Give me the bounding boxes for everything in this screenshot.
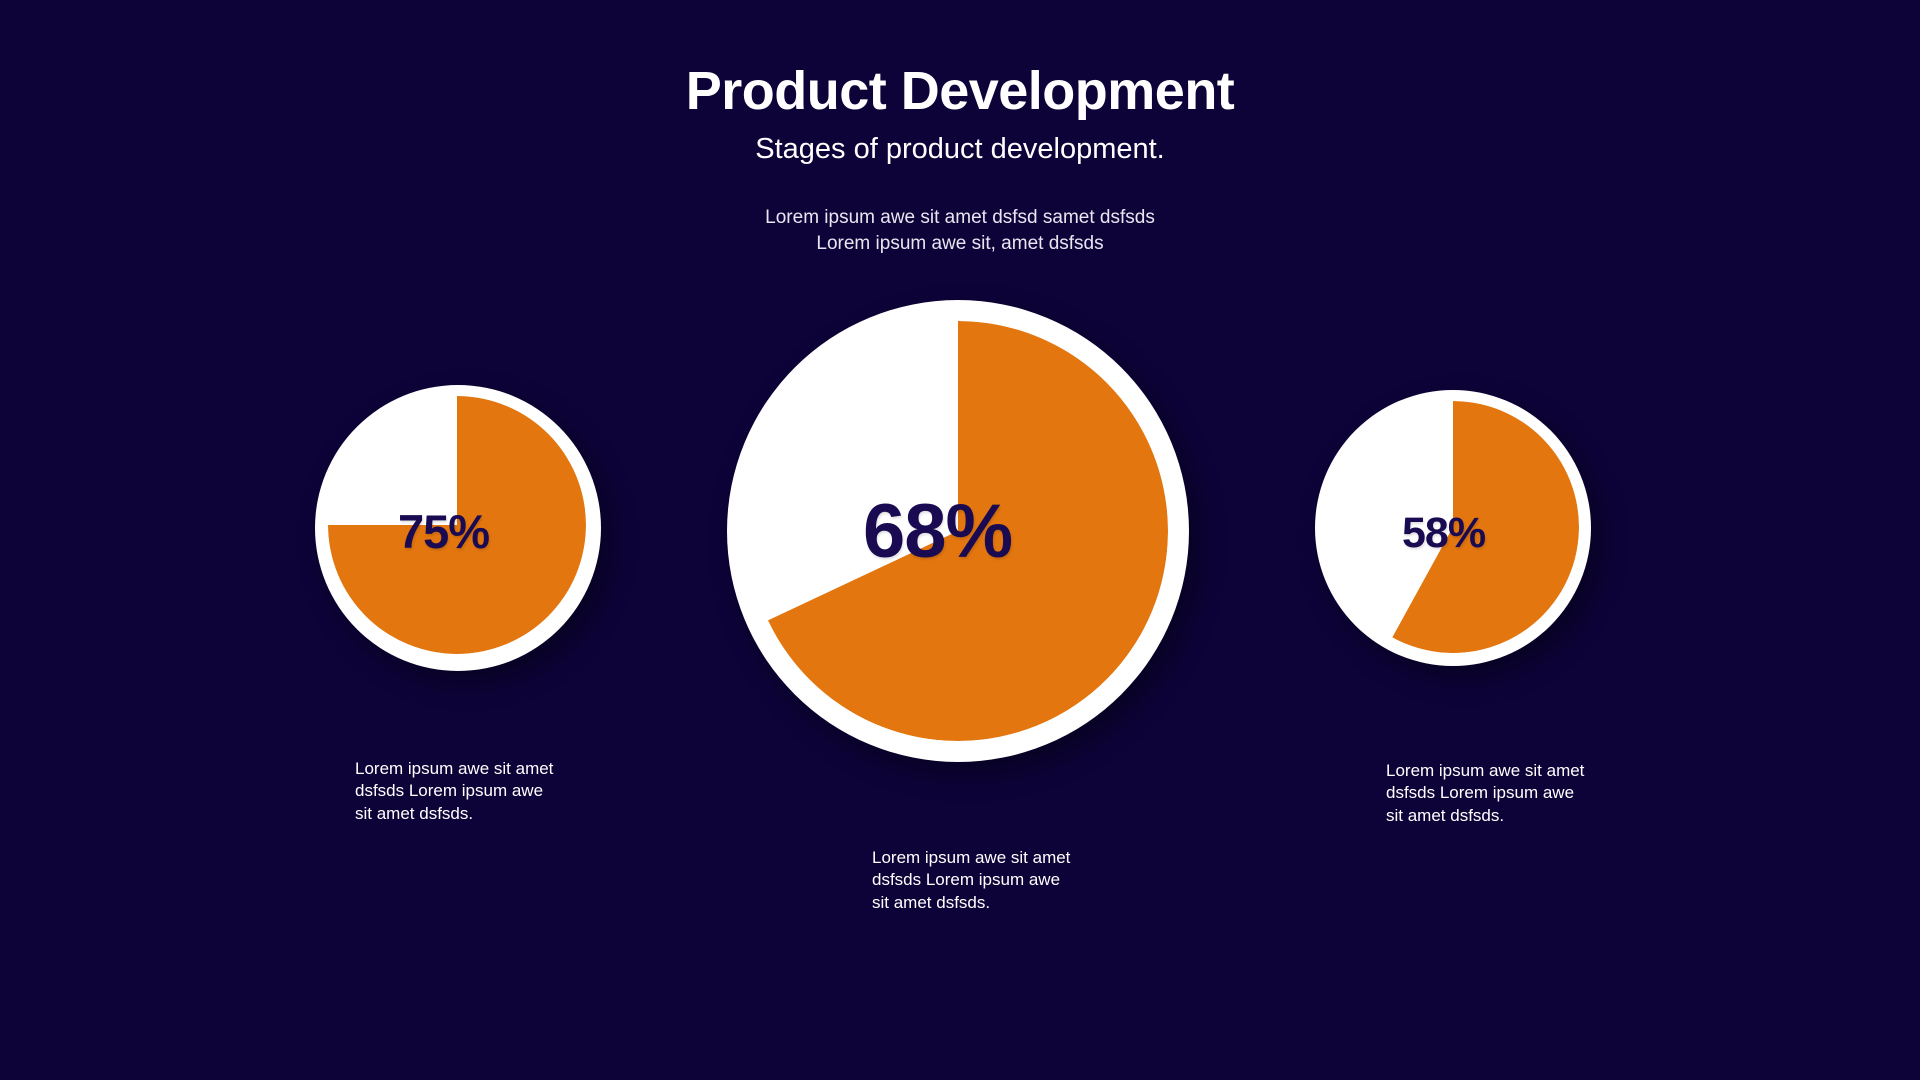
pie-value-label-1: 75% bbox=[398, 508, 489, 555]
pie-chart-group: 75% Lorem ipsum awe sit amet dsfsds Lore… bbox=[0, 0, 1920, 1080]
infographic-slide: Product Development Stages of product de… bbox=[0, 0, 1920, 1080]
pie-caption-1: Lorem ipsum awe sit amet dsfsds Lorem ip… bbox=[355, 758, 560, 825]
pie-caption-2: Lorem ipsum awe sit amet dsfsds Lorem ip… bbox=[872, 847, 1077, 914]
pie-value-label-3: 58% bbox=[1402, 512, 1485, 555]
pie-caption-3: Lorem ipsum awe sit amet dsfsds Lorem ip… bbox=[1386, 760, 1586, 827]
pie-value-label-2: 68% bbox=[863, 494, 1012, 570]
